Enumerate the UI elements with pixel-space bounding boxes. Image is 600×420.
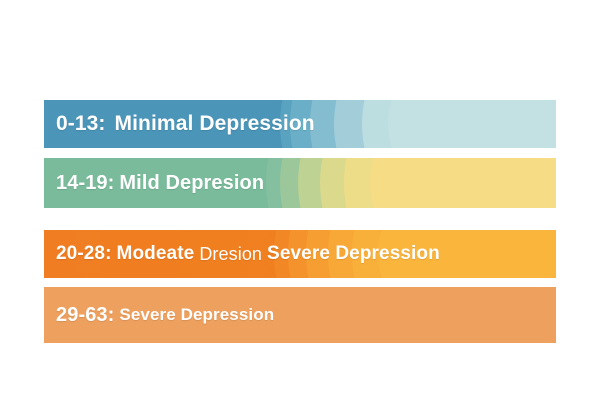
severity-band-minimal: 0-13: Minimal Depression [44,100,556,148]
band-range-mild: 14-19: [56,172,114,195]
band-name-minimal: Minimal Depression [115,112,315,136]
severity-band-severe: 29-63: Severe Depression [44,287,556,343]
depression-severity-scale: 0-13: Minimal Depression 14-19: Mild Dep… [0,0,600,420]
band-label-mild: 14-19: Mild Depresion [56,158,264,208]
band-range-severe: 29-63: [56,304,114,327]
severity-band-moderate: 20-28: Modeate Dresion Severe Depression [44,230,556,278]
band-label-minimal: 0-13: Minimal Depression [56,100,315,148]
band-range-moderate: 20-28: [56,243,112,265]
band-label-severe: 29-63: Severe Depression [56,287,274,343]
band-name-moderate: Modeate [117,243,195,265]
band-name-moderate-extra: Severe Depression [267,243,440,265]
severity-band-mild: 14-19: Mild Depresion [44,158,556,208]
band-name-mild: Mild Depresion [119,172,264,195]
band-range-minimal: 0-13: [56,112,106,136]
band-name-severe: Severe Depression [119,305,274,325]
band-name-moderate-alt: Dresion [199,244,262,265]
band-label-moderate: 20-28: Modeate Dresion Severe Depression [56,230,440,278]
